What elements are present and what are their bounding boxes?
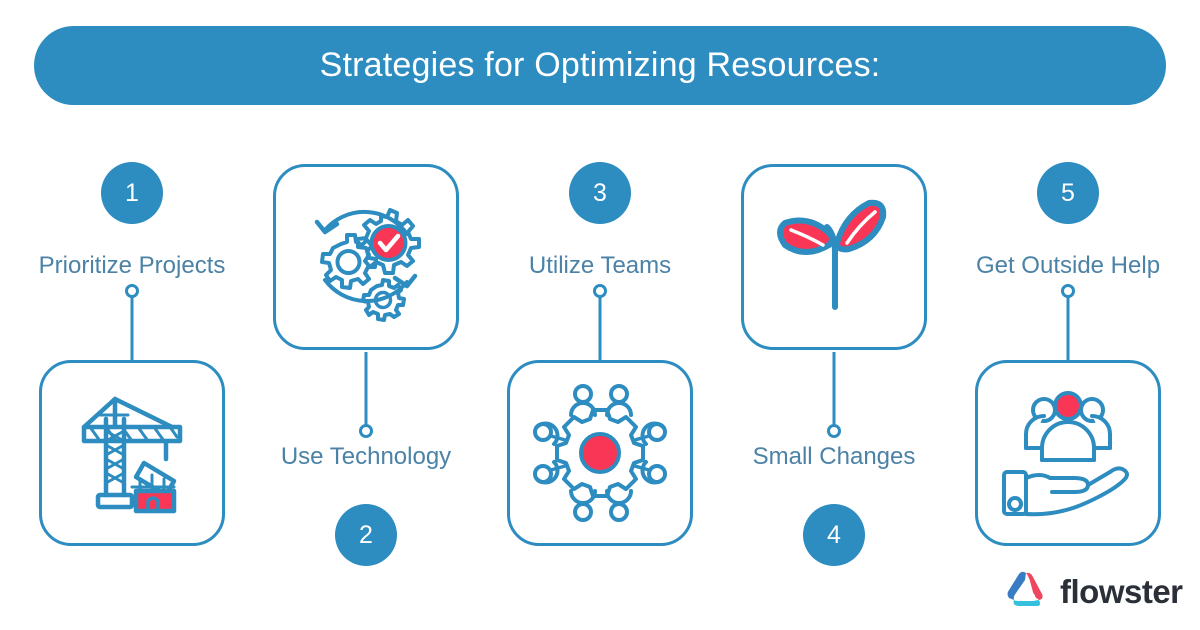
connector-stem-2	[365, 352, 368, 426]
flowster-swirl-icon	[1004, 570, 1048, 614]
icon-box-5[interactable]	[975, 360, 1161, 546]
icon-box-3[interactable]	[507, 360, 693, 546]
step-number-badge-5: 5	[1037, 162, 1099, 224]
step-column-2: Use Technology 2	[246, 140, 486, 580]
connector-line-1	[125, 284, 139, 364]
step-label-3: Utilize Teams	[480, 252, 720, 280]
step-label-5: Get Outside Help	[948, 252, 1188, 280]
step-number-badge-1: 1	[101, 162, 163, 224]
step-number-badge-3: 3	[569, 162, 631, 224]
step-column-4: Small Changes 4	[714, 140, 954, 580]
connector-stem-4	[833, 352, 836, 426]
connector-line-4	[827, 352, 841, 438]
logo-wordmark: flowster	[1060, 573, 1183, 611]
step-number-badge-2: 2	[335, 504, 397, 566]
construction-crane-icon	[62, 383, 202, 523]
step-label-4: Small Changes	[714, 443, 954, 471]
connector-line-5	[1061, 284, 1075, 364]
infographic-canvas: Strategies for Optimizing Resources: 1 P…	[0, 0, 1200, 630]
hand-holding-people-icon	[996, 386, 1140, 520]
step-number-badge-4: 4	[803, 504, 865, 566]
brand-logo[interactable]: flowster	[1004, 570, 1183, 614]
step-column-5: 5 Get Outside Help	[948, 140, 1188, 580]
step-label-2: Use Technology	[246, 443, 486, 471]
connector-stem-3	[599, 296, 602, 364]
connector-stem-5	[1067, 296, 1070, 364]
icon-box-4[interactable]	[741, 164, 927, 350]
step-column-3: 3 Utilize Teams	[480, 140, 720, 580]
connector-dot-2	[359, 424, 373, 438]
sprout-plant-icon	[759, 187, 909, 327]
step-label-1: Prioritize Projects	[12, 252, 252, 280]
connector-line-3	[593, 284, 607, 364]
connector-dot-4	[827, 424, 841, 438]
team-network-gear-icon	[527, 380, 673, 526]
gears-refresh-check-icon	[295, 186, 437, 328]
page-title: Strategies for Optimizing Resources:	[320, 46, 881, 85]
icon-box-2[interactable]	[273, 164, 459, 350]
connector-line-2	[359, 352, 373, 438]
title-banner: Strategies for Optimizing Resources:	[34, 26, 1166, 105]
connector-stem-1	[131, 296, 134, 364]
step-column-1: 1 Prioritize Projects	[12, 140, 252, 580]
icon-box-1[interactable]	[39, 360, 225, 546]
